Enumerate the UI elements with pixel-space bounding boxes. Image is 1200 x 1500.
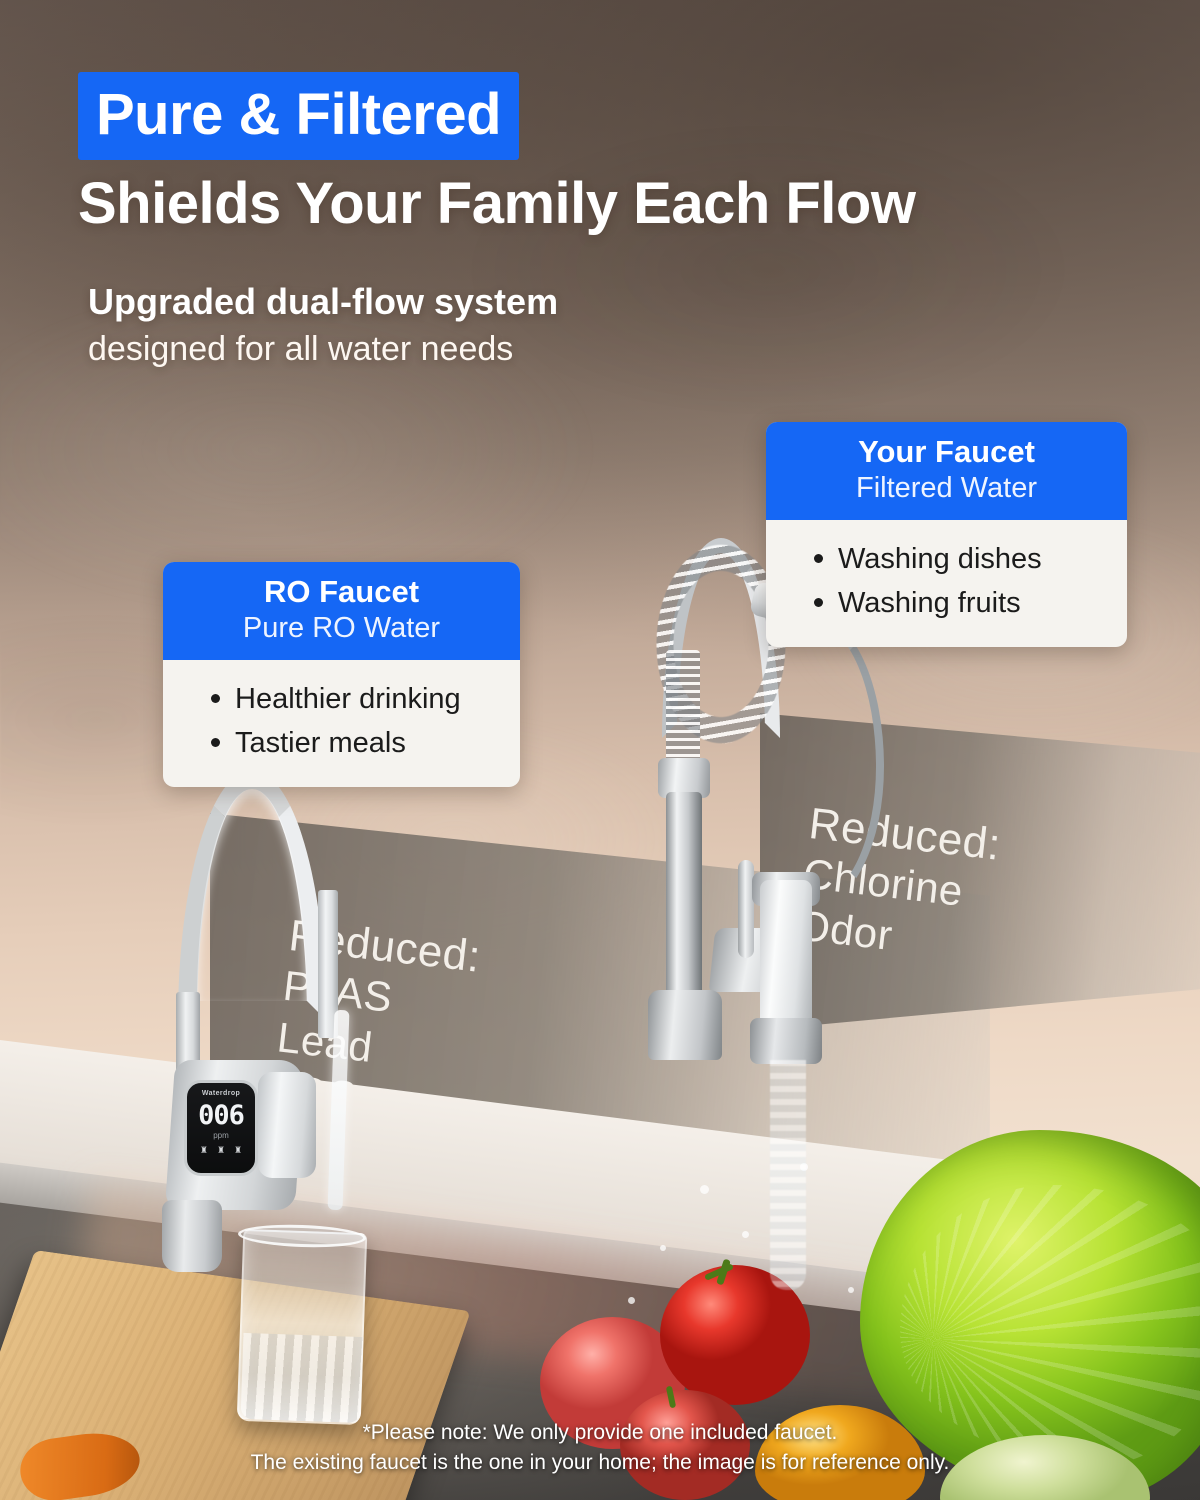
water-droplet: [628, 1297, 635, 1304]
filter-icon: ♜: [200, 1145, 208, 1156]
faucet-spout: [760, 880, 812, 1030]
ro-faucet-knob[interactable]: [258, 1072, 316, 1178]
water-droplet: [848, 1287, 854, 1293]
faucet-base: [648, 990, 722, 1060]
faucet-water-stream: [770, 1060, 806, 1290]
tds-brand-label: Waterdrop: [202, 1090, 240, 1097]
tds-unit-label: ppm: [213, 1131, 229, 1140]
ro-faucet: Waterdrop 006 ppm ♜ ♜ ♜: [150, 760, 390, 1280]
tds-value: 006: [198, 1102, 244, 1129]
footnote: *Please note: We only provide one includ…: [0, 1418, 1200, 1478]
subheadline-bold: Upgraded dual-flow system: [88, 278, 558, 327]
tds-display: Waterdrop 006 ppm ♜ ♜ ♜: [184, 1080, 258, 1176]
list-item: Tastier meals: [207, 722, 520, 764]
filter-icon: ♜: [234, 1145, 242, 1156]
filter-icon: ♜: [217, 1145, 225, 1156]
faucet-aerator: [750, 1018, 822, 1064]
ro-faucet-base: [162, 1200, 222, 1272]
footnote-line-1: *Please note: We only provide one includ…: [0, 1418, 1200, 1448]
callout-card-your-title: Your Faucet: [766, 434, 1127, 471]
headline-subline: Shields Your Family Each Flow: [78, 170, 1148, 238]
list-item: Healthier drinking: [207, 678, 520, 720]
callout-card-ro-subtitle: Pure RO Water: [163, 611, 520, 646]
faucet-hose: [772, 616, 884, 906]
callout-card-ro-faucet: RO Faucet Pure RO Water Healthier drinki…: [163, 562, 520, 787]
water-droplet: [742, 1231, 749, 1238]
list-item: Washing dishes: [810, 538, 1127, 580]
callout-card-ro-body: Healthier drinking Tastier meals: [163, 660, 520, 787]
faucet-handle[interactable]: [738, 860, 754, 958]
callout-card-your-body: Washing dishes Washing fruits: [766, 520, 1127, 647]
callout-card-ro-header: RO Faucet Pure RO Water: [163, 562, 520, 660]
callout-card-your-header: Your Faucet Filtered Water: [766, 422, 1127, 520]
faucet-neck-rings: [666, 650, 700, 768]
headline-badge: Pure & Filtered: [78, 72, 519, 160]
footnote-line-2: The existing faucet is the one in your h…: [0, 1448, 1200, 1478]
water-droplet: [700, 1185, 709, 1194]
headline-block: Pure & Filtered Shields Your Family Each…: [78, 72, 1148, 238]
callout-card-your-faucet: Your Faucet Filtered Water Washing dishe…: [766, 422, 1127, 647]
glass-facets: [241, 1333, 364, 1423]
callout-card-ro-title: RO Faucet: [163, 574, 520, 611]
product-marketing-image: Pure & Filtered Shields Your Family Each…: [0, 0, 1200, 1500]
subheadline-regular: designed for all water needs: [88, 327, 558, 373]
ro-faucet-gooseneck: [178, 770, 326, 1020]
water-droplet: [660, 1245, 666, 1251]
callout-card-your-subtitle: Filtered Water: [766, 471, 1127, 506]
ro-water-stream: [328, 1010, 350, 1210]
tds-indicator-icons: ♜ ♜ ♜: [200, 1145, 242, 1156]
subheadline-block: Upgraded dual-flow system designed for a…: [88, 278, 558, 372]
list-item: Washing fruits: [810, 582, 1127, 624]
